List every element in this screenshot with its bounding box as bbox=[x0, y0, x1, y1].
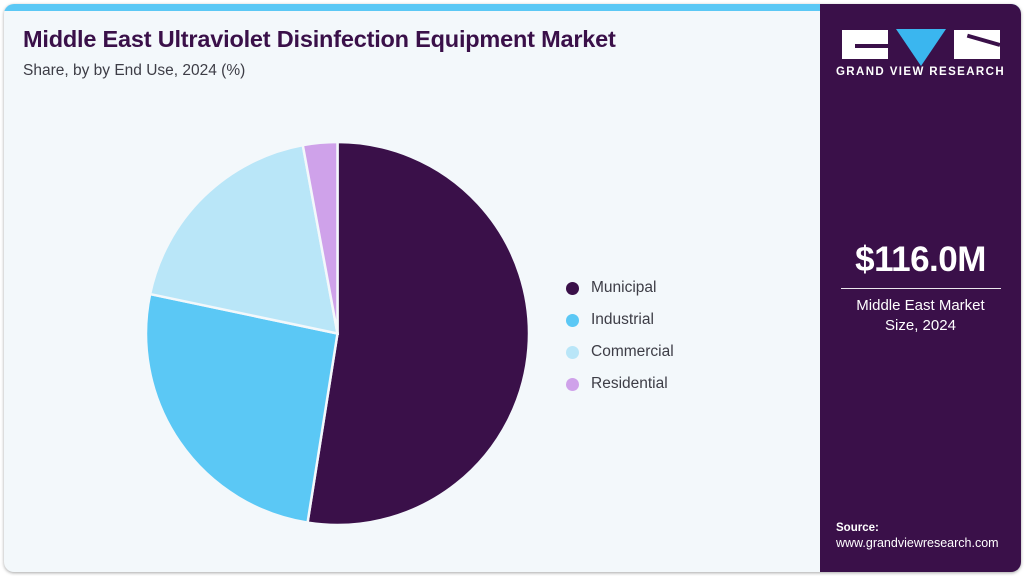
pie-slice-group bbox=[146, 142, 529, 525]
side-panel: GRAND VIEW RESEARCH $116.0M Middle East … bbox=[820, 4, 1021, 572]
legend-label: Residential bbox=[591, 375, 668, 393]
legend-label: Municipal bbox=[591, 279, 656, 297]
logo-wordmark: GRAND VIEW RESEARCH bbox=[820, 66, 1021, 78]
logo-marks bbox=[820, 30, 1021, 59]
logo-v-triangle-icon bbox=[896, 29, 946, 66]
chart-legend: Municipal Industrial Commercial Resident… bbox=[566, 272, 674, 400]
page-title: Middle East Ultraviolet Disinfection Equ… bbox=[23, 26, 803, 53]
stat-divider bbox=[841, 288, 1001, 289]
stat-value: $116.0M bbox=[820, 240, 1021, 280]
legend-item-commercial[interactable]: Commercial bbox=[566, 336, 674, 368]
brand-logo: GRAND VIEW RESEARCH bbox=[820, 30, 1021, 78]
market-size-stat: $116.0M Middle East Market Size, 2024 bbox=[820, 240, 1021, 337]
stat-label-line2: Size, 2024 bbox=[885, 317, 956, 334]
legend-item-residential[interactable]: Residential bbox=[566, 368, 674, 400]
legend-label: Industrial bbox=[591, 311, 654, 329]
legend-item-municipal[interactable]: Municipal bbox=[566, 272, 674, 304]
pie-chart bbox=[146, 142, 529, 526]
header: Middle East Ultraviolet Disinfection Equ… bbox=[23, 26, 803, 80]
source-title: Source: bbox=[836, 522, 1021, 534]
screenshot-root: Middle East Ultraviolet Disinfection Equ… bbox=[0, 0, 1025, 576]
legend-swatch-icon bbox=[566, 378, 579, 391]
infographic-card: Middle East Ultraviolet Disinfection Equ… bbox=[4, 4, 1021, 572]
page-subtitle: Share, by by End Use, 2024 (%) bbox=[23, 62, 803, 80]
pie-slice[interactable] bbox=[308, 142, 529, 525]
legend-item-industrial[interactable]: Industrial bbox=[566, 304, 674, 336]
stat-label: Middle East Market Size, 2024 bbox=[820, 296, 1021, 337]
source-url[interactable]: www.grandviewresearch.com bbox=[836, 536, 1021, 550]
logo-r-icon bbox=[954, 30, 1000, 59]
legend-swatch-icon bbox=[566, 314, 579, 327]
legend-label: Commercial bbox=[591, 343, 674, 361]
stat-label-line1: Middle East Market bbox=[856, 297, 984, 314]
legend-swatch-icon bbox=[566, 346, 579, 359]
source-block: Source: www.grandviewresearch.com bbox=[836, 522, 1021, 550]
legend-swatch-icon bbox=[566, 282, 579, 295]
pie-chart-svg bbox=[146, 142, 529, 526]
logo-g-icon bbox=[842, 30, 888, 59]
